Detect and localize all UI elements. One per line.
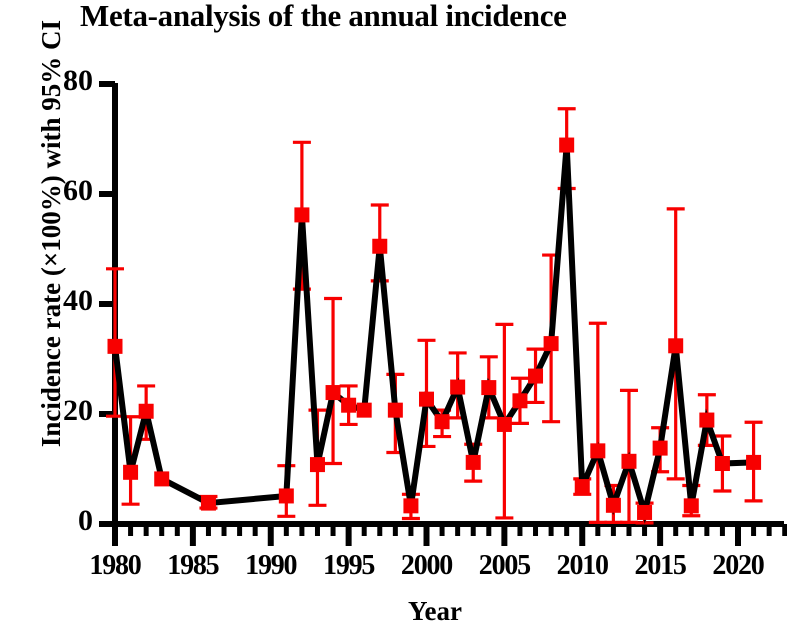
data-point-marker bbox=[419, 392, 434, 407]
data-point-marker bbox=[310, 457, 325, 472]
data-point-marker bbox=[388, 403, 403, 418]
x-tick-label: 2010 bbox=[543, 550, 621, 582]
data-point-marker bbox=[621, 454, 636, 469]
data-point-marker bbox=[279, 488, 294, 503]
x-tick-label: 2015 bbox=[621, 550, 699, 582]
data-point-marker bbox=[497, 417, 512, 432]
y-tick-label: 40 bbox=[33, 284, 93, 318]
x-tick-label: 1995 bbox=[310, 550, 388, 582]
axes bbox=[99, 83, 785, 546]
data-point-marker bbox=[590, 443, 605, 458]
data-point-marker bbox=[653, 441, 668, 456]
data-point-marker bbox=[559, 138, 574, 153]
data-point-marker bbox=[512, 393, 527, 408]
data-point-marker bbox=[403, 498, 418, 513]
data-point-marker bbox=[154, 471, 169, 486]
y-tick-label: 20 bbox=[33, 394, 93, 428]
y-tick-label: 80 bbox=[33, 64, 93, 98]
data-point-marker bbox=[528, 369, 543, 384]
data-point-marker bbox=[341, 398, 356, 413]
data-polyline bbox=[115, 145, 754, 512]
data-point-marker bbox=[746, 455, 761, 470]
data-point-marker bbox=[544, 336, 559, 351]
data-point-marker bbox=[201, 496, 216, 511]
error-bars bbox=[106, 109, 763, 523]
data-point-marker bbox=[450, 380, 465, 395]
x-tick-label: 2020 bbox=[699, 550, 777, 582]
data-point-marker bbox=[481, 380, 496, 395]
data-point-marker bbox=[372, 239, 387, 254]
chart-figure: Meta-analysis of the annual incidence In… bbox=[0, 0, 787, 640]
y-tick-label: 60 bbox=[33, 174, 93, 208]
data-line bbox=[115, 145, 754, 512]
data-point-marker bbox=[466, 455, 481, 470]
data-point-marker bbox=[139, 404, 154, 419]
data-point-marker bbox=[575, 479, 590, 494]
x-tick-label: 1980 bbox=[76, 550, 154, 582]
data-point-marker bbox=[357, 403, 372, 418]
data-point-marker bbox=[108, 339, 123, 354]
x-tick-label: 1990 bbox=[232, 550, 310, 582]
data-point-marker bbox=[684, 498, 699, 513]
y-tick-label: 0 bbox=[33, 504, 93, 538]
plot-area bbox=[0, 0, 787, 640]
x-tick-label: 2005 bbox=[465, 550, 543, 582]
data-point-marker bbox=[699, 413, 714, 428]
x-tick-label: 1985 bbox=[154, 550, 232, 582]
data-point-marker bbox=[435, 414, 450, 429]
data-point-marker bbox=[637, 505, 652, 520]
data-markers bbox=[108, 138, 762, 520]
data-point-marker bbox=[294, 207, 309, 222]
data-point-marker bbox=[606, 498, 621, 513]
data-point-marker bbox=[668, 338, 683, 353]
data-point-marker bbox=[123, 465, 138, 480]
x-tick-label: 2000 bbox=[388, 550, 466, 582]
data-point-marker bbox=[326, 385, 341, 400]
data-point-marker bbox=[715, 456, 730, 471]
